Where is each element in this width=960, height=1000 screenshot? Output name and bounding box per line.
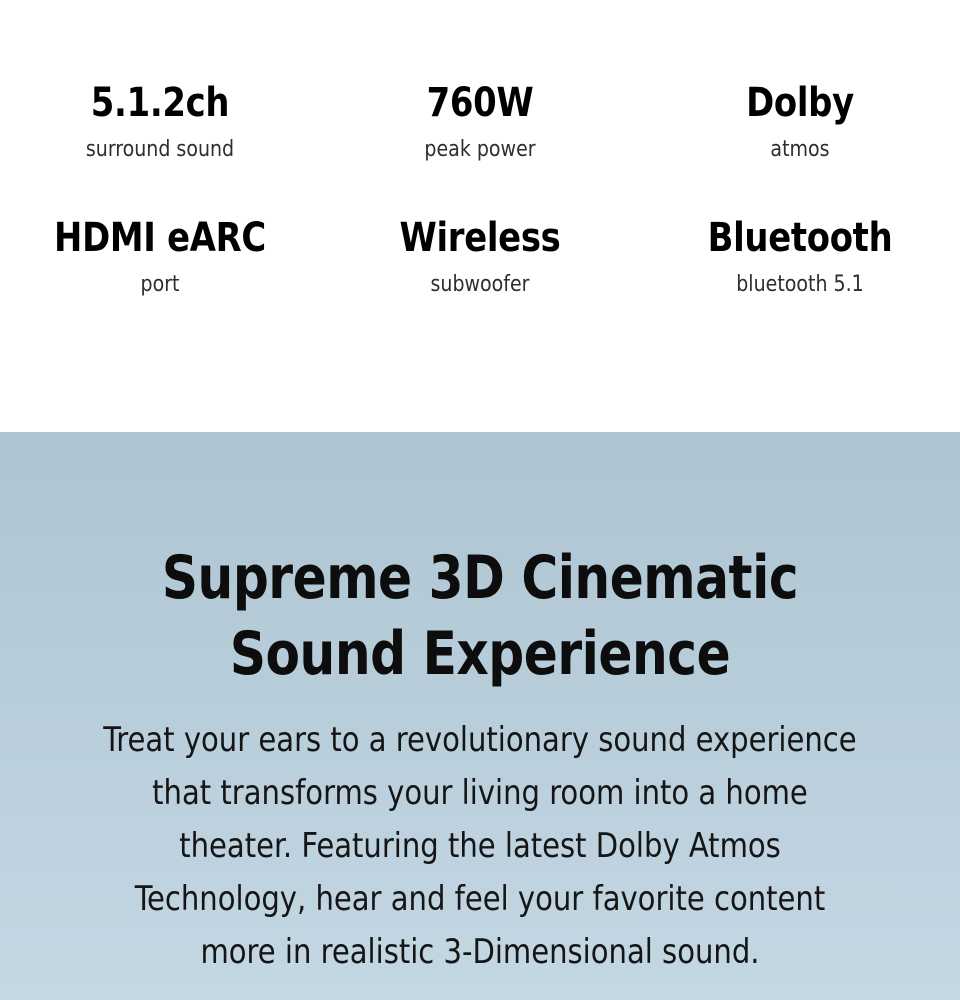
spec-item-peak-power: 760W peak power <box>320 78 640 166</box>
hero-body-text: Treat your ears to a revolutionary sound… <box>100 692 860 979</box>
spec-highlights-section: 5.1.2ch surround sound 760W peak power D… <box>0 0 960 432</box>
spec-item-hdmi-earc: HDMI eARC port <box>0 213 320 301</box>
spec-value: Wireless <box>330 213 631 263</box>
hero-title: Supreme 3D Cinematic Sound Experience <box>89 432 870 692</box>
spec-label: peak power <box>326 134 633 166</box>
spec-value: 5.1.2ch <box>10 78 311 128</box>
hero-title-line-2: Sound Experience <box>230 619 730 689</box>
spec-value: 760W <box>330 78 631 128</box>
spec-item-wireless-subwoofer: Wireless subwoofer <box>320 213 640 301</box>
spec-label: surround sound <box>6 134 313 166</box>
spec-label: atmos <box>646 134 953 166</box>
spec-value: Dolby <box>650 78 951 128</box>
spec-item-surround-sound: 5.1.2ch surround sound <box>0 78 320 166</box>
spec-label: bluetooth 5.1 <box>646 269 953 301</box>
spec-value: HDMI eARC <box>10 213 311 263</box>
spec-item-dolby-atmos: Dolby atmos <box>640 78 960 166</box>
spec-label: port <box>6 269 313 301</box>
product-feature-page: 5.1.2ch surround sound 760W peak power D… <box>0 0 960 1000</box>
spec-row-2: HDMI eARC port Wireless subwoofer Blueto… <box>0 166 960 301</box>
spec-row-1: 5.1.2ch surround sound 760W peak power D… <box>0 0 960 166</box>
spec-label: subwoofer <box>326 269 633 301</box>
hero-title-line-1: Supreme 3D Cinematic <box>162 543 798 613</box>
spec-item-bluetooth: Bluetooth bluetooth 5.1 <box>640 213 960 301</box>
hero-section: Supreme 3D Cinematic Sound Experience Tr… <box>0 432 960 1000</box>
spec-value: Bluetooth <box>650 213 951 263</box>
